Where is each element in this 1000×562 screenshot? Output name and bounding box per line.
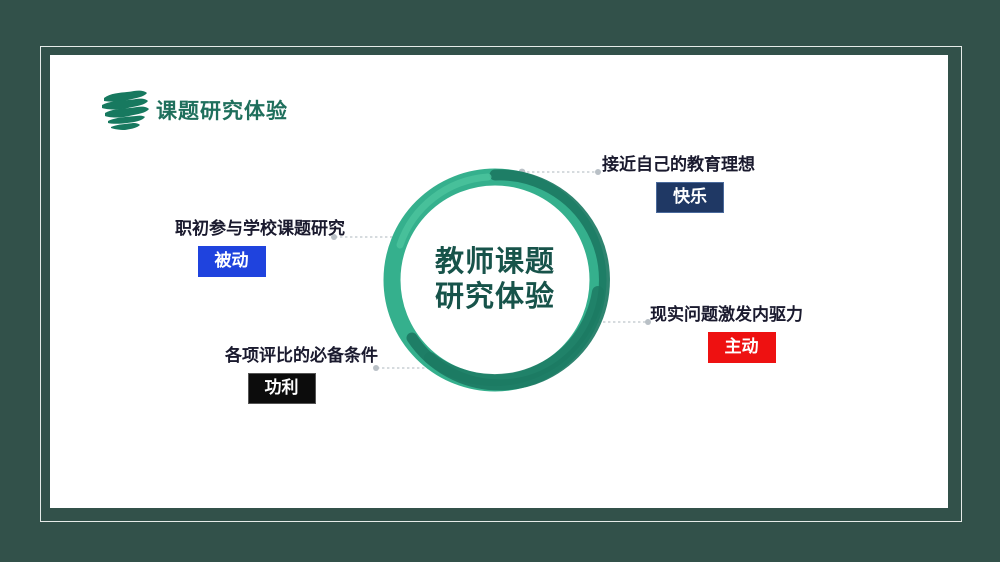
node-right-bottom[interactable]: 现实问题激发内驱力 主动 xyxy=(650,305,833,363)
node-left-mid[interactable]: 职初参与学校课题研究 被动 xyxy=(118,219,345,277)
slide-header: 课题研究体验 xyxy=(98,88,288,134)
slide-canvas: 课题研究体验 xyxy=(50,55,948,508)
ring-accent-arc-bottom xyxy=(430,292,598,380)
node-right-top-badge[interactable]: 快乐 xyxy=(656,182,724,212)
center-ring: 教师课题 研究体验 xyxy=(370,155,620,405)
node-right-top[interactable]: 接近自己的教育理想 快乐 xyxy=(602,155,778,213)
slide-root: 课题研究体验 xyxy=(0,0,1000,562)
node-left-bottom-badge-row: 功利 xyxy=(185,366,378,403)
node-left-bottom[interactable]: 各项评比的必备条件 功利 xyxy=(185,346,378,404)
node-left-mid-label: 职初参与学校课题研究 xyxy=(118,219,345,239)
brush-stroke-icon xyxy=(98,88,150,134)
ring-accent-arc xyxy=(412,175,604,385)
node-left-bottom-badge[interactable]: 功利 xyxy=(248,373,316,403)
node-right-bottom-label: 现实问题激发内驱力 xyxy=(650,305,833,325)
page-title: 课题研究体验 xyxy=(156,101,288,122)
node-right-bottom-badge[interactable]: 主动 xyxy=(708,332,776,362)
node-right-top-badge-row: 快乐 xyxy=(602,175,778,212)
node-left-mid-badge-row: 被动 xyxy=(118,239,345,276)
node-right-bottom-badge-row: 主动 xyxy=(650,325,833,362)
node-right-top-label: 接近自己的教育理想 xyxy=(602,155,778,175)
node-left-bottom-label: 各项评比的必备条件 xyxy=(185,346,378,366)
node-left-mid-badge[interactable]: 被动 xyxy=(198,246,266,276)
